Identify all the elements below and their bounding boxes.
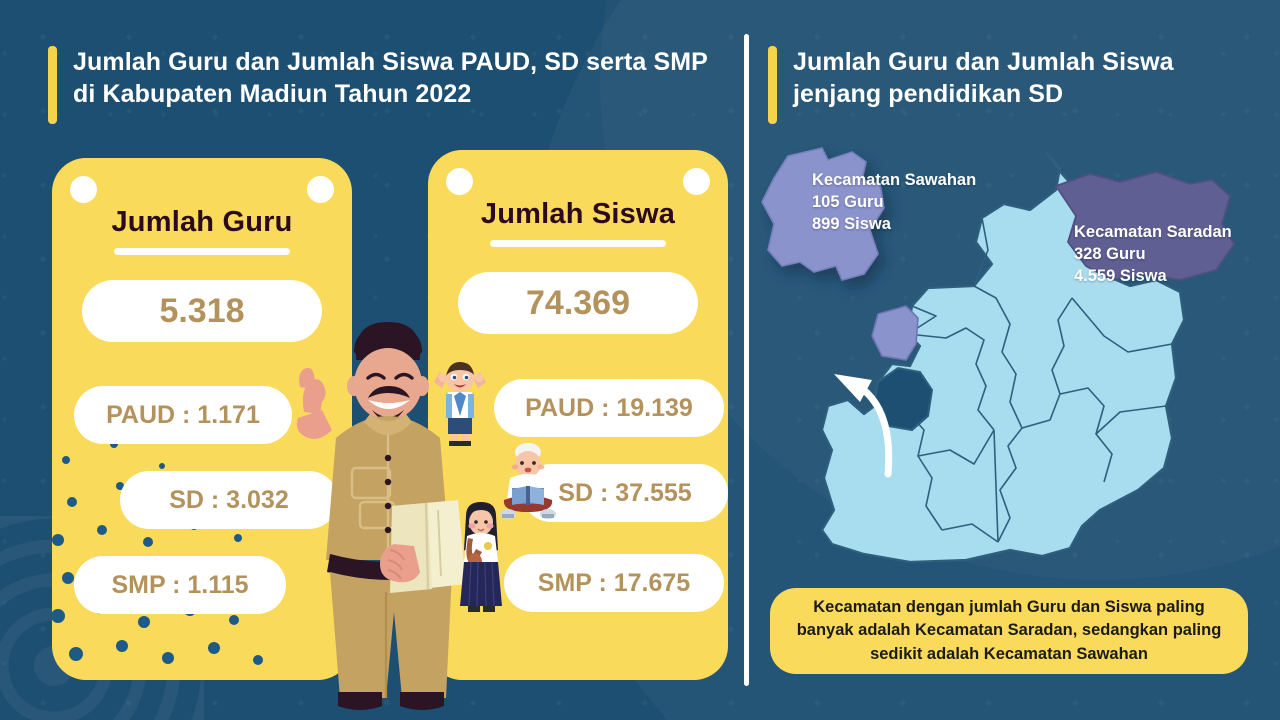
card-pin-hole-right <box>307 176 334 203</box>
card-title-underline <box>490 240 666 247</box>
siswa-total-pill: 74.369 <box>458 272 698 334</box>
infographic-canvas: Jumlah Guru dan Jumlah Siswa PAUD, SD se… <box>0 0 1280 720</box>
left-panel-title: Jumlah Guru dan Jumlah Siswa PAUD, SD se… <box>48 46 708 124</box>
sawahan-name: Kecamatan Sawahan <box>812 170 976 192</box>
map-label-sawahan: Kecamatan Sawahan 105 Guru 899 Siswa <box>812 170 976 236</box>
stat-card-guru: Jumlah Guru 5.318 PAUD : 1.171 SD : 3.03… <box>52 158 352 680</box>
card-header-guru: Jumlah Guru <box>52 206 352 255</box>
title-accent-bar <box>48 46 57 124</box>
right-panel-title: Jumlah Guru dan Jumlah Siswa jenjang pen… <box>768 46 1238 124</box>
card-title-siswa: Jumlah Siswa <box>428 198 728 231</box>
saradan-guru: 328 Guru <box>1074 244 1232 266</box>
right-title-text: Jumlah Guru dan Jumlah Siswa jenjang pen… <box>793 46 1238 124</box>
siswa-smp-pill: SMP : 17.675 <box>504 554 724 612</box>
saradan-siswa: 4.559 Siswa <box>1074 266 1232 288</box>
map-region-sawahan-origin <box>872 306 918 360</box>
sawahan-siswa: 899 Siswa <box>812 214 976 236</box>
title-accent-bar <box>768 46 777 124</box>
sawahan-guru: 105 Guru <box>812 192 976 214</box>
card-dot-pattern <box>52 430 282 680</box>
map-label-saradan: Kecamatan Saradan 328 Guru 4.559 Siswa <box>1074 222 1232 288</box>
card-pin-hole-left <box>446 168 473 195</box>
left-title-text: Jumlah Guru dan Jumlah Siswa PAUD, SD se… <box>73 46 708 124</box>
stat-card-siswa: Jumlah Siswa 74.369 PAUD : 19.139 SD : 3… <box>428 150 728 680</box>
card-pin-hole-right <box>683 168 710 195</box>
saradan-name: Kecamatan Saradan <box>1074 222 1232 244</box>
map-caption-box: Kecamatan dengan jumlah Guru dan Siswa p… <box>770 588 1248 674</box>
map-caption-text: Kecamatan dengan jumlah Guru dan Siswa p… <box>786 596 1232 666</box>
guru-sd-pill: SD : 3.032 <box>120 471 338 529</box>
siswa-paud-pill: PAUD : 19.139 <box>494 379 724 437</box>
card-title-guru: Jumlah Guru <box>52 206 352 239</box>
guru-paud-pill: PAUD : 1.171 <box>74 386 292 444</box>
card-title-underline <box>114 248 290 255</box>
card-header-siswa: Jumlah Siswa <box>428 198 728 247</box>
guru-smp-pill: SMP : 1.115 <box>74 556 286 614</box>
siswa-sd-pill: SD : 37.555 <box>522 464 728 522</box>
card-pin-hole-left <box>70 176 97 203</box>
guru-total-pill: 5.318 <box>82 280 322 342</box>
vertical-divider <box>744 34 749 686</box>
arrow-head-icon <box>834 374 872 402</box>
